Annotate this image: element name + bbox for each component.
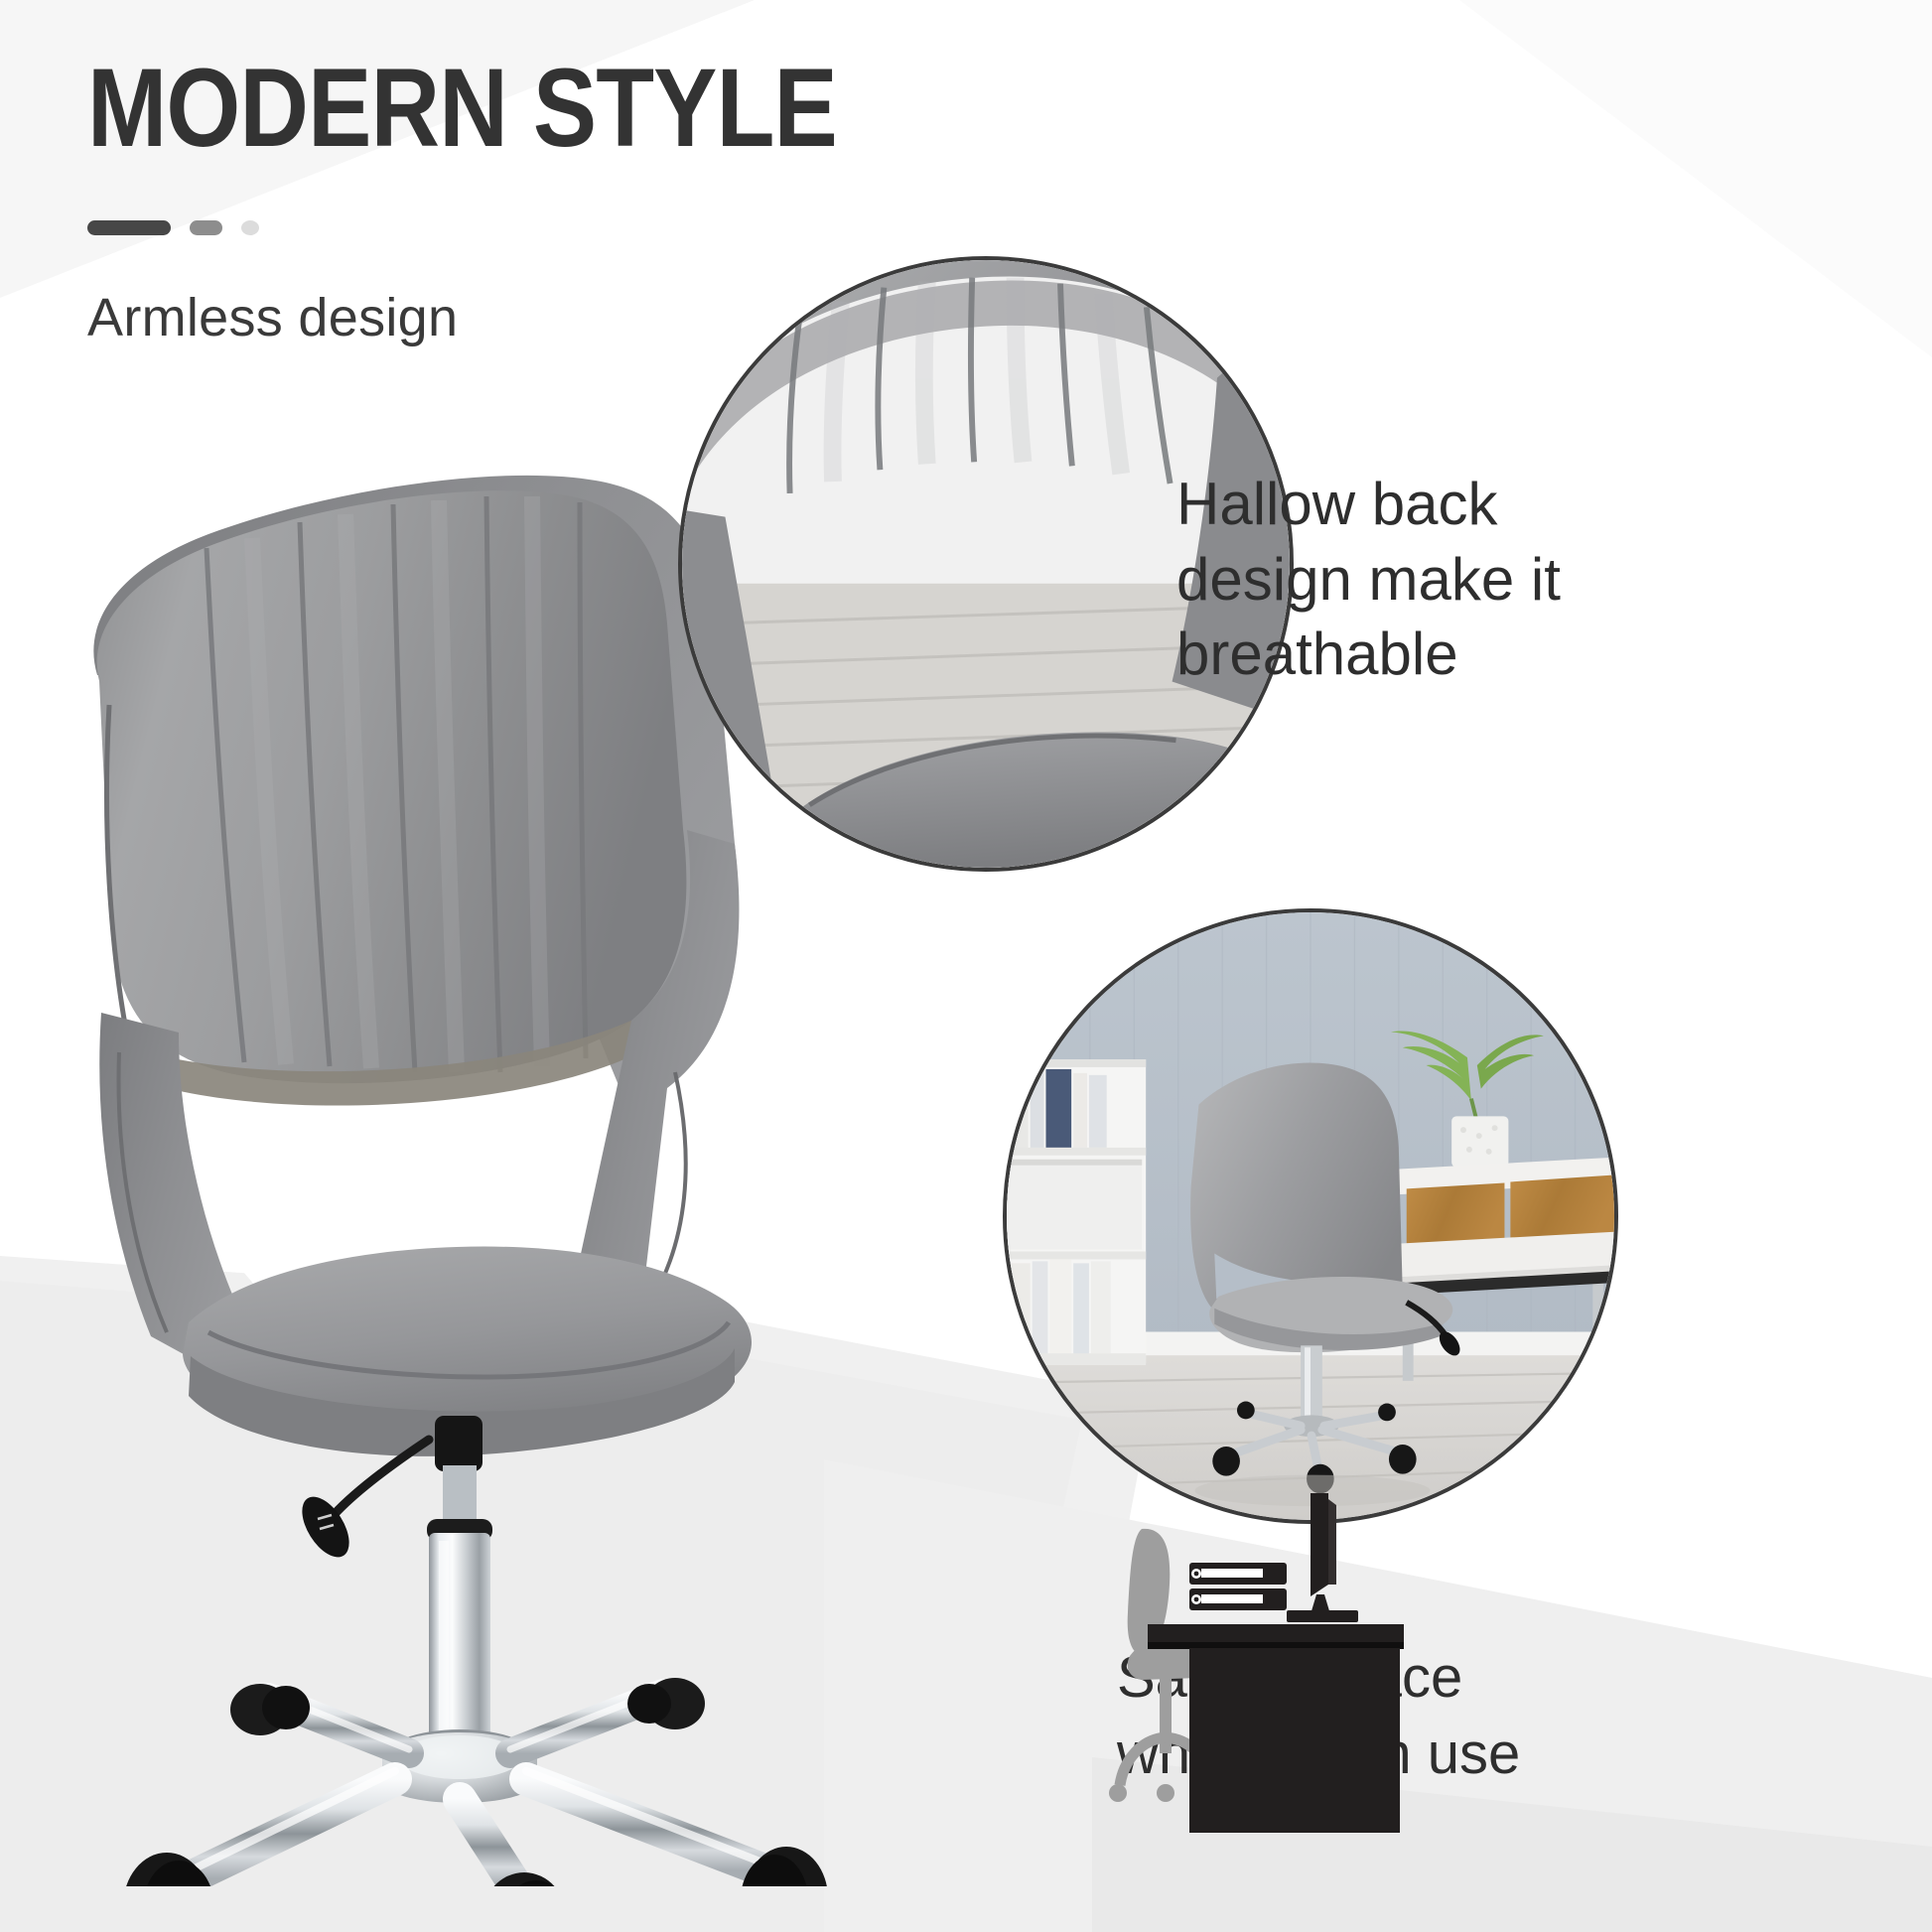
icon-chair-caster-right [1157, 1784, 1174, 1802]
desk-drawer-right [1510, 1175, 1614, 1243]
divider-dashes [87, 220, 959, 235]
icon-chair-base-left [1120, 1737, 1166, 1785]
base-arm-left [189, 1779, 395, 1878]
height-adjust-lever[interactable] [293, 1440, 429, 1565]
gas-lift-column [427, 1416, 492, 1759]
caption-hollow-back: Hallow back design make it breathable [1176, 467, 1561, 692]
room-scene-art [1007, 912, 1614, 1520]
divider-dash-long [87, 220, 171, 235]
room-planter [1451, 1116, 1508, 1167]
icon-chair-caster-left [1109, 1784, 1127, 1802]
room-chair-column [1301, 1345, 1322, 1422]
cylinder-highlight [439, 1541, 449, 1749]
bookcase-drawer [1007, 1160, 1142, 1250]
icon-binders [1189, 1563, 1287, 1610]
chair-backrest [93, 476, 739, 1106]
base-arm-front [460, 1799, 516, 1886]
page-title: MODERN STYLE [87, 52, 837, 165]
divider-dash-short [190, 220, 222, 235]
base-arm-right [526, 1779, 764, 1870]
seat-plate [435, 1416, 483, 1471]
divider-dot [241, 220, 259, 235]
caster-back-left [230, 1684, 310, 1735]
bookcase-divider-1 [1007, 1148, 1146, 1156]
inset-room-scene [1003, 908, 1618, 1524]
icon-monitor [1287, 1493, 1358, 1622]
caption-hollow-line-3: breathable [1176, 617, 1561, 692]
icon-desk-cabinet [1189, 1648, 1400, 1833]
room-bookcase [1007, 1059, 1146, 1365]
caption-hollow-line-1: Hallow back [1176, 467, 1561, 542]
gas-cylinder [429, 1533, 490, 1759]
bookcase-divider-2 [1007, 1252, 1146, 1260]
icon-monitor-stand [1287, 1610, 1358, 1622]
caption-hollow-line-2: design make it [1176, 542, 1561, 618]
caster-back-right [627, 1678, 705, 1729]
desk-with-tucked-chair-icon [1090, 1489, 1457, 1857]
chair-backrest-panel [97, 490, 687, 1083]
